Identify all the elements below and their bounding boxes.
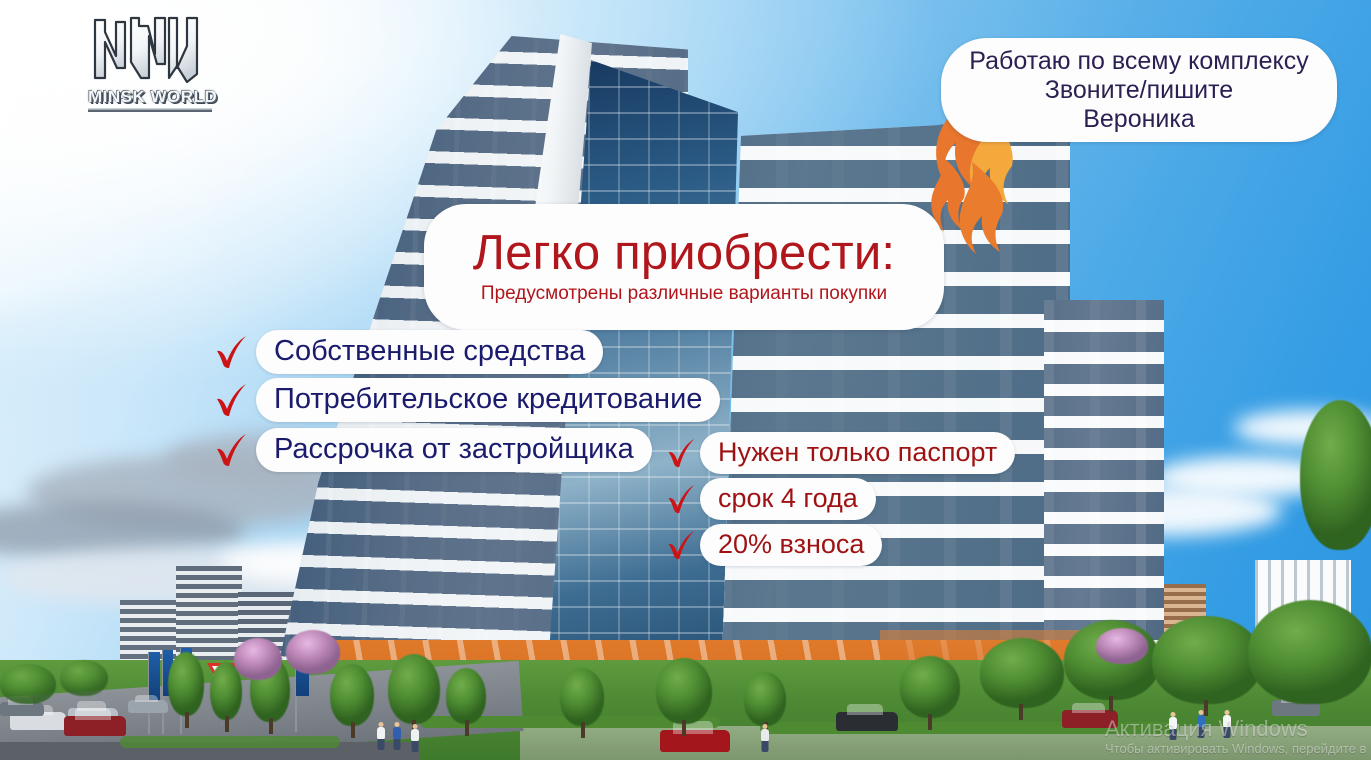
page-title: Легко приобрести:	[473, 225, 895, 281]
tree	[1300, 400, 1371, 550]
pedestrian	[392, 722, 402, 750]
car	[836, 712, 898, 731]
pedestrian	[376, 722, 386, 750]
car	[1062, 710, 1118, 728]
tree	[656, 658, 712, 724]
headline-callout: Легко приобрести: Предусмотрены различны…	[424, 204, 944, 330]
tree	[0, 664, 56, 704]
blossom-tree	[1096, 628, 1148, 664]
blossom-tree	[234, 638, 282, 680]
check-icon	[214, 382, 248, 418]
list-item[interactable]: Рассрочка от застройщика	[214, 428, 652, 472]
tree	[900, 656, 960, 718]
hedge	[120, 736, 340, 748]
list-item[interactable]: срок 4 года	[666, 478, 876, 520]
tree	[1152, 616, 1262, 704]
check-icon	[214, 432, 248, 468]
tree	[560, 668, 604, 726]
check-icon	[666, 437, 696, 469]
tree	[980, 638, 1064, 708]
check-icon	[214, 334, 248, 370]
tree	[1248, 600, 1371, 704]
list-item-label: Нужен только паспорт	[700, 432, 1015, 474]
logo-underbar	[88, 108, 212, 112]
list-item-label: Потребительское кредитование	[256, 378, 720, 422]
pedestrian	[760, 724, 770, 752]
pedestrian	[1168, 712, 1178, 740]
list-item[interactable]: Потребительское кредитование	[214, 378, 720, 422]
list-item-label: срок 4 года	[700, 478, 876, 520]
list-item[interactable]: Нужен только паспорт	[666, 432, 1015, 474]
contact-line-2: Звоните/пишите	[1045, 76, 1233, 105]
list-item[interactable]: Собственные средства	[214, 330, 603, 374]
tree	[388, 654, 440, 724]
contact-line-3: Вероника	[1083, 105, 1195, 134]
list-item-label: 20% взноса	[700, 524, 882, 566]
logo-wordmark: MINSK WORLD	[88, 87, 218, 107]
promo-banner: MINSK WORLD Работаю по всему комплексу З…	[0, 0, 1371, 760]
car	[64, 716, 126, 736]
tree	[446, 668, 486, 724]
pedestrian	[1196, 710, 1206, 738]
pedestrian	[1222, 710, 1232, 738]
car	[128, 700, 168, 713]
minsk-world-logo: MINSK WORLD	[88, 14, 218, 114]
tree	[60, 660, 108, 696]
tree	[168, 652, 204, 716]
mw-monogram-icon	[88, 14, 206, 86]
contact-line-1: Работаю по всему комплексу	[969, 47, 1308, 76]
check-icon	[666, 529, 696, 561]
car	[660, 730, 730, 752]
list-item[interactable]: 20% взноса	[666, 524, 882, 566]
list-item-label: Рассрочка от застройщика	[256, 428, 652, 472]
contact-callout[interactable]: Работаю по всему комплексу Звоните/пишит…	[941, 38, 1337, 142]
tree	[330, 664, 374, 726]
street-banner	[149, 652, 160, 700]
tree	[744, 672, 786, 726]
list-item-label: Собственные средства	[256, 330, 603, 374]
pedestrian	[410, 724, 420, 752]
car	[0, 702, 44, 716]
check-icon	[666, 483, 696, 515]
page-subtitle: Предусмотрены различные варианты покупки	[481, 282, 887, 306]
